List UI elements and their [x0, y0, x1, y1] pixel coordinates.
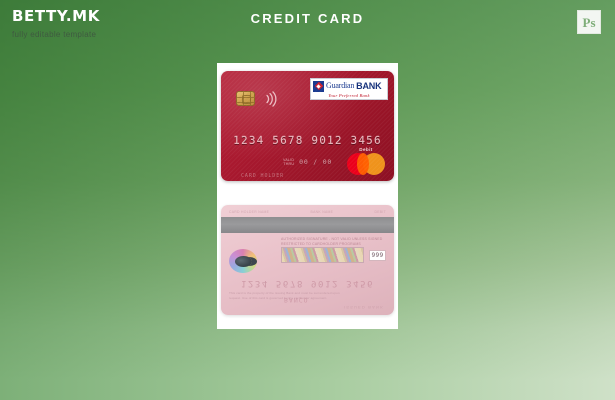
credit-card-back: CARD HOLDER NAME BANK NAME DEBIT AUTHORI… — [221, 205, 394, 315]
card-number-back: 1234 5678 9012 3456 — [221, 278, 394, 288]
magnetic-stripe — [221, 217, 394, 233]
emv-chip-icon — [236, 91, 255, 106]
guardian-bank-emblem-icon — [313, 81, 324, 92]
valid-thru-label-line2: THRU — [283, 162, 294, 166]
cvv-box: 999 — [369, 250, 386, 261]
mastercard-icon — [346, 153, 386, 175]
valid-thru-date: 00 / 00 — [299, 158, 332, 166]
bank-logo: Guardian BANK Your Preferred Bank — [310, 78, 388, 100]
bank-name-bold: BANK — [356, 82, 381, 91]
card-number-front: 1234 5678 9012 3456 — [221, 134, 394, 147]
bank-tagline: Your Preferred Bank — [313, 93, 385, 98]
signature-strip — [281, 247, 364, 263]
credit-card-front: Guardian BANK Your Preferred Bank 1234 5… — [221, 71, 394, 181]
network-label: Debit — [346, 147, 386, 152]
back-top-right-label: DEBIT — [374, 210, 386, 214]
valid-thru-block: VALID THRU 00 / 00 — [283, 158, 332, 167]
contactless-icon — [264, 91, 278, 107]
back-bank-word: BANCO — [284, 296, 309, 304]
bank-name-light: Guardian — [326, 82, 354, 90]
back-bottom-right-label: ISSUED BANK — [344, 305, 384, 310]
cvv-value: 999 — [371, 252, 383, 259]
back-top-row: CARD HOLDER NAME BANK NAME DEBIT — [221, 210, 394, 214]
hologram-globe-icon — [229, 249, 257, 273]
valid-thru-label: VALID THRU — [283, 158, 294, 167]
card-preview-panel: Guardian BANK Your Preferred Bank 1234 5… — [217, 63, 398, 329]
page-title: CREDIT CARD — [0, 11, 615, 26]
back-top-left-label: CARD HOLDER NAME — [229, 210, 269, 214]
cardholder-name-front: CARD HOLDER — [241, 173, 284, 179]
signature-notice: AUTHORIZED SIGNATURE - NOT VALID UNLESS … — [281, 237, 382, 247]
photoshop-icon-label: Ps — [583, 16, 596, 29]
network-logo-block: Debit — [346, 147, 386, 175]
photoshop-icon: Ps — [577, 10, 601, 34]
brand-subtitle: fully editable template — [12, 31, 100, 39]
back-top-center-label: BANK NAME — [311, 210, 334, 214]
poster-canvas: BETTY.MK fully editable template CREDIT … — [0, 0, 615, 400]
